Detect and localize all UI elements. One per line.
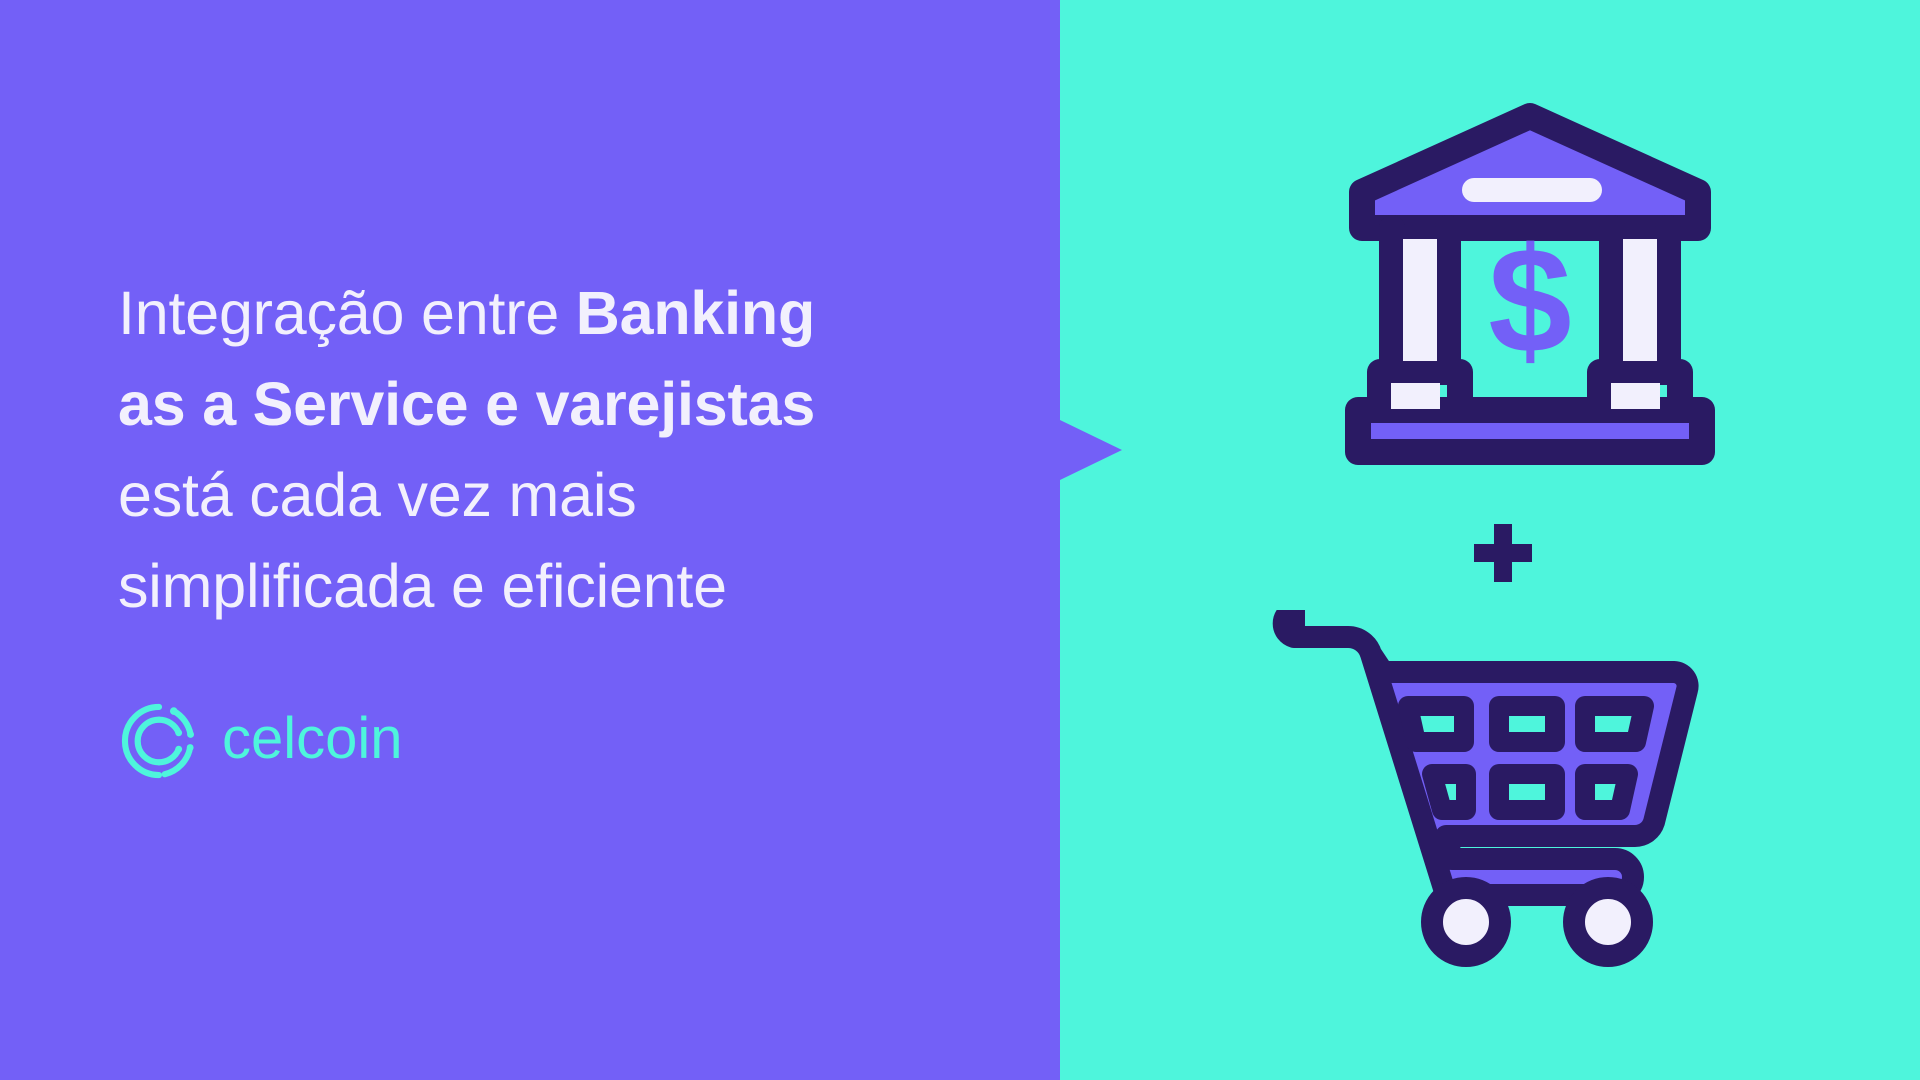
celcoin-wordmark: celcoin	[222, 708, 434, 779]
plus-icon	[1470, 520, 1536, 591]
headline-line-1-regular: Integração entre	[118, 279, 576, 347]
celcoin-wordmark-text: celcoin	[222, 708, 403, 771]
celcoin-logo: celcoin	[118, 700, 434, 787]
bank-column-right	[1623, 239, 1657, 361]
bank-building-icon: $	[1340, 100, 1720, 475]
headline-line-4: simplificada e eficiente	[118, 541, 1018, 632]
illustration-stack: $	[1270, 100, 1790, 990]
bank-dollar-symbol: $	[1488, 216, 1571, 384]
headline-line-3: está cada vez mais	[118, 450, 1018, 541]
banner-root: Integração entre Banking as a Service e …	[0, 0, 1920, 1080]
headline-line-1: Integração entre Banking	[118, 268, 1018, 359]
bank-pediment-bar	[1462, 178, 1602, 202]
headline-line-2: as a Service e varejistas	[118, 359, 1018, 450]
bank-base-right	[1611, 383, 1660, 409]
shopping-cart-icon	[1270, 610, 1700, 975]
bank-base-left	[1391, 383, 1440, 409]
page-title: Integração entre Banking as a Service e …	[118, 268, 1018, 632]
headline-line-1-bold: Banking	[576, 279, 815, 347]
bank-column-left	[1403, 239, 1437, 361]
celcoin-circle-mark-icon	[118, 700, 200, 787]
panel-pointer-arrow	[1060, 420, 1122, 480]
